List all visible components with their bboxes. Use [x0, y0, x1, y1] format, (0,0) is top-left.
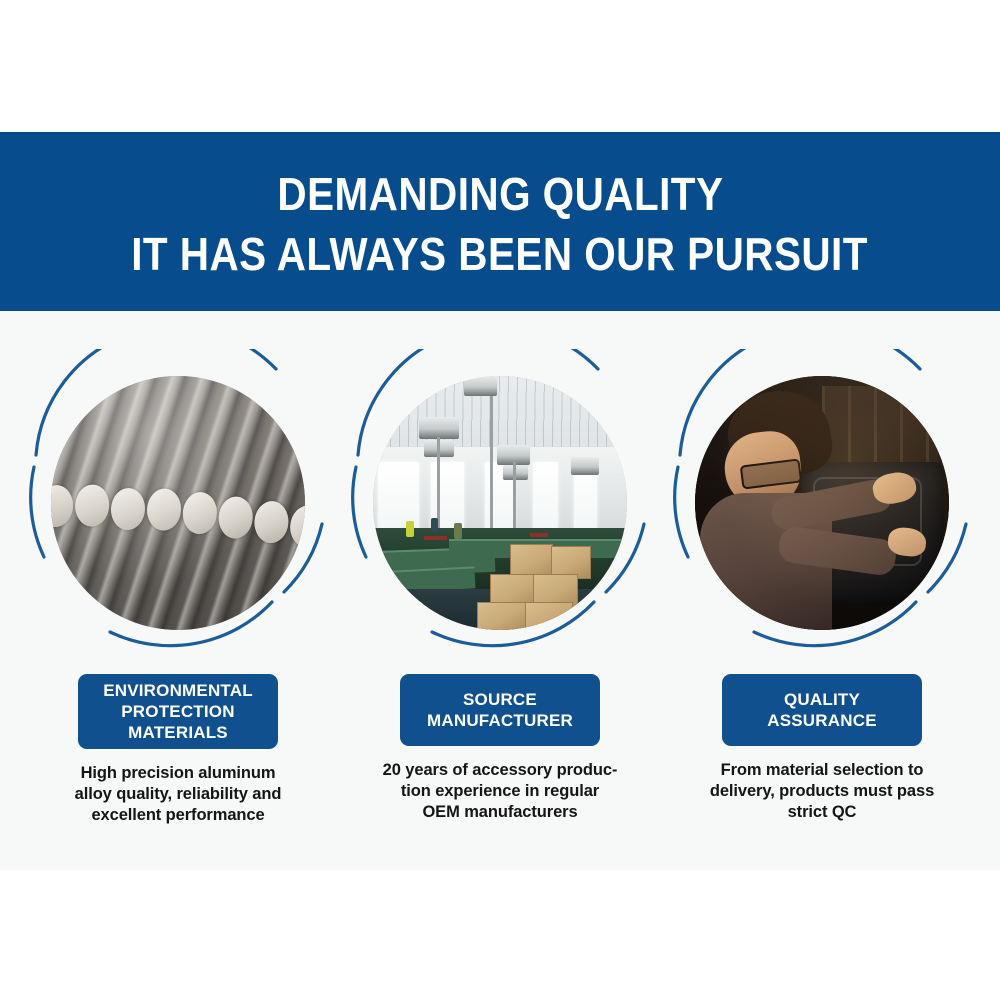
feature-1-desc-line-3: excellent performance [28, 805, 328, 826]
feature-environmental-protection-materials: ENVIRONMENTAL PROTECTION MATERIALS High … [22, 311, 334, 870]
feature-1-label-line-3: MATERIALS [128, 723, 228, 742]
headline-line-2: IT HAS ALWAYS BEEN OUR PURSUIT [132, 224, 869, 284]
bottom-white-margin [0, 870, 1000, 1000]
feature-3-label: QUALITY ASSURANCE [722, 674, 922, 746]
feature-1-photo [51, 376, 305, 630]
feature-2-description: 20 years of accessory produc- tion exper… [350, 760, 650, 823]
top-white-margin [0, 0, 1000, 132]
feature-3-label-line-2: ASSURANCE [767, 711, 876, 730]
feature-1-description: High precision aluminum alloy quality, r… [28, 763, 328, 826]
feature-3-photo [695, 376, 949, 630]
feature-columns: ENVIRONMENTAL PROTECTION MATERIALS High … [0, 311, 1000, 870]
feature-source-manufacturer: SOURCE MANUFACTURER 20 years of accessor… [344, 311, 656, 870]
feature-3-desc-line-3: strict QC [672, 802, 972, 823]
feature-2-photo [373, 376, 627, 630]
feature-2-circle [344, 349, 656, 657]
feature-2-label-line-2: MANUFACTURER [427, 711, 573, 730]
headline-line-1: DEMANDING QUALITY [277, 164, 723, 224]
feature-3-circle [666, 349, 978, 657]
headline-banner: DEMANDING QUALITY IT HAS ALWAYS BEEN OUR… [0, 132, 1000, 311]
feature-1-label: ENVIRONMENTAL PROTECTION MATERIALS [78, 674, 278, 749]
feature-2-label: SOURCE MANUFACTURER [400, 674, 600, 746]
feature-3-label-line-1: QUALITY [784, 690, 860, 709]
feature-1-label-line-1: ENVIRONMENTAL [103, 681, 253, 700]
feature-3-desc-line-1: From material selection to [672, 760, 972, 781]
feature-1-circle [22, 349, 334, 657]
feature-2-desc-line-3: OEM manufacturers [350, 802, 650, 823]
feature-2-desc-line-1: 20 years of accessory produc- [350, 760, 650, 781]
feature-1-desc-line-2: alloy quality, reliability and [28, 784, 328, 805]
feature-2-label-line-1: SOURCE [463, 690, 537, 709]
feature-3-description: From material selection to delivery, pro… [672, 760, 972, 823]
feature-3-desc-line-2: delivery, products must pass [672, 781, 972, 802]
feature-1-label-line-2: PROTECTION [121, 702, 234, 721]
feature-quality-assurance: QUALITY ASSURANCE From material selectio… [666, 311, 978, 870]
feature-1-desc-line-1: High precision aluminum [28, 763, 328, 784]
feature-2-desc-line-2: tion experience in regular [350, 781, 650, 802]
